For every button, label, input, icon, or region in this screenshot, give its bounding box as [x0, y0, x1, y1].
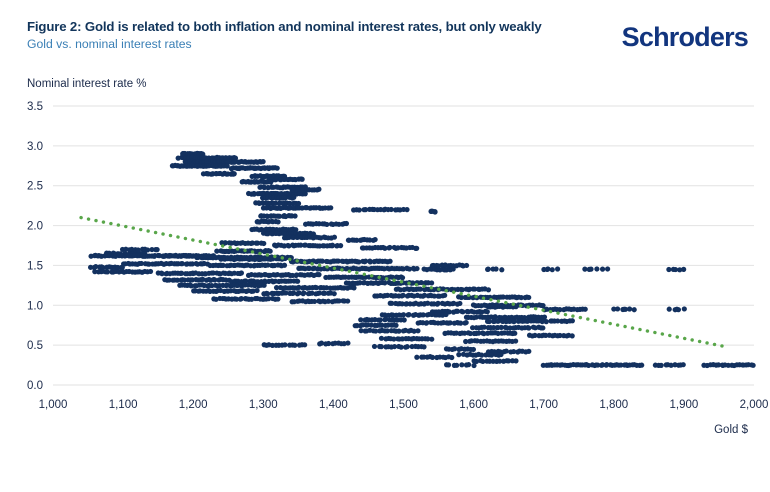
scatter-point [401, 293, 406, 298]
scatter-point [456, 352, 461, 357]
scatter-point [239, 270, 244, 275]
scatter-point [379, 344, 384, 349]
scatter-point [296, 201, 301, 206]
scatter-point [587, 267, 592, 272]
scatter-point [282, 263, 287, 268]
scatter-point [292, 343, 297, 348]
scatter-point [471, 363, 476, 368]
x-tick-label: 2,000 [740, 399, 769, 411]
scatter-point [570, 333, 575, 338]
x-tick-label: 1,400 [319, 399, 348, 411]
scatter-point [378, 317, 383, 322]
x-tick-label: 1,700 [529, 399, 558, 411]
scatter-point [622, 307, 627, 312]
scatter-point [674, 307, 679, 312]
scatter-point [667, 307, 672, 312]
scatter-point [513, 358, 518, 363]
scatter-point [671, 267, 676, 272]
scatter-point [328, 205, 333, 210]
scatter-point [406, 312, 411, 317]
scatter-point [387, 259, 392, 264]
scatter-point [345, 340, 350, 345]
scatter-point [421, 344, 426, 349]
scatter-point [681, 362, 686, 367]
scatter-point [357, 207, 362, 212]
y-tick-label: 3.0 [27, 141, 43, 153]
scatter-point [275, 296, 280, 301]
y-tick-label: 2.0 [27, 221, 43, 233]
y-axis-tick-labels: 0.00.51.01.52.02.53.03.5 [27, 101, 43, 392]
scatter-point [276, 219, 281, 224]
scatter-point [639, 363, 644, 368]
scatter-point [429, 337, 434, 342]
figure-container: Figure 2: Gold is related to both inflat… [0, 0, 770, 492]
x-tick-label: 1,900 [670, 399, 699, 411]
scatter-points [88, 151, 756, 368]
scatter-point [512, 331, 517, 336]
scatter-point [511, 319, 516, 324]
scatter-point [414, 246, 419, 251]
scatter-point [659, 363, 664, 368]
x-tick-label: 1,200 [179, 399, 208, 411]
scatter-point [600, 267, 605, 272]
scatter-point [389, 207, 394, 212]
scatter-point [485, 267, 490, 272]
scatter-point [471, 347, 476, 352]
scatter-point [301, 290, 306, 295]
scatter-point [300, 177, 305, 182]
plot-area: 0.00.51.01.52.02.53.03.5 1,0001,1001,200… [0, 0, 770, 492]
scatter-point [485, 309, 490, 314]
scatter-point [526, 325, 531, 330]
scatter-point [393, 323, 398, 328]
scatter-point [632, 307, 637, 312]
scatter-point [155, 247, 160, 252]
scatter-point [459, 362, 464, 367]
scatter-point [414, 266, 419, 271]
scatter-point [265, 291, 270, 296]
scatter-point [627, 306, 632, 311]
scatter-point [399, 345, 404, 350]
x-tick-label: 1,100 [109, 399, 138, 411]
x-tick-label: 1,500 [389, 399, 418, 411]
scatter-point [720, 362, 725, 367]
scatter-point [555, 266, 560, 271]
scatter-point [550, 267, 555, 272]
scatter-point [402, 317, 407, 322]
scatter-point [292, 213, 297, 218]
scatter-point [681, 267, 686, 272]
scatter-point [446, 362, 451, 367]
scatter-point [211, 253, 216, 258]
scatter-point [268, 179, 273, 184]
scatter-point [382, 280, 387, 285]
scatter-point [400, 275, 405, 280]
scatter-point [275, 166, 280, 171]
y-tick-label: 1.0 [27, 300, 43, 312]
scatter-point [180, 151, 185, 156]
scatter-point [232, 171, 237, 176]
scatter-point [302, 342, 307, 347]
x-axis-tick-labels: 1,0001,1001,2001,3001,4001,5001,6001,700… [39, 399, 769, 411]
scatter-point [414, 355, 419, 360]
scatter-point [145, 247, 150, 252]
scatter-point [260, 159, 265, 164]
scatter-point [401, 312, 406, 317]
scatter-point [373, 237, 378, 242]
scatter-point [498, 352, 503, 357]
scatter-point [262, 283, 267, 288]
y-tick-label: 0.0 [27, 380, 43, 392]
scatter-point [741, 362, 746, 367]
x-tick-label: 1,000 [39, 399, 68, 411]
scatter-point [291, 195, 296, 200]
scatter-point [449, 355, 454, 360]
scatter-point [594, 266, 599, 271]
scatter-point [338, 243, 343, 248]
scatter-point [666, 267, 671, 272]
scatter-point [466, 362, 471, 367]
y-tick-label: 3.5 [27, 101, 43, 113]
scatter-point [605, 266, 610, 271]
scatter-point [332, 291, 337, 296]
scatter-point [404, 207, 409, 212]
scatter-point [457, 301, 462, 306]
y-tick-label: 1.5 [27, 260, 43, 272]
scatter-point [499, 267, 504, 272]
scatter-point [136, 247, 141, 252]
scatter-point [268, 249, 273, 254]
scatter-point [615, 306, 620, 311]
scatter-point [332, 235, 337, 240]
scatter-point [254, 288, 259, 293]
scatter-point [432, 209, 437, 214]
y-tick-label: 2.5 [27, 181, 43, 193]
scatter-point [405, 344, 410, 349]
scatter-point [396, 329, 401, 334]
scatter-point [540, 325, 545, 330]
scatter-point [545, 267, 550, 272]
scatter-point [282, 342, 287, 347]
scatter-point [452, 346, 457, 351]
scatter-point [316, 187, 321, 192]
scatter-point [504, 348, 509, 353]
scatter-point [442, 293, 447, 298]
scatter-point [464, 320, 469, 325]
scatter-point [486, 287, 491, 292]
scatter-point [344, 221, 349, 226]
scatter-point [351, 285, 356, 290]
scatter-point [493, 266, 498, 271]
scatter-point [105, 269, 110, 274]
scatter-point [526, 295, 531, 300]
x-tick-label: 1,600 [459, 399, 488, 411]
scatter-point [513, 338, 518, 343]
scatter-point [682, 306, 687, 311]
y-tick-label: 0.5 [27, 340, 43, 352]
scatter-point [148, 269, 153, 274]
scatter-point [372, 344, 377, 349]
x-tick-label: 1,300 [249, 399, 278, 411]
scatter-point [324, 222, 329, 227]
scatter-point [751, 363, 756, 368]
scatter-point [345, 298, 350, 303]
scatter-point [526, 349, 531, 354]
scatter-point [460, 309, 465, 314]
scatter-point [379, 336, 384, 341]
scatter-point [583, 307, 588, 312]
scatter-point [261, 241, 266, 246]
scatter-point [487, 319, 492, 324]
scatter-point [387, 245, 392, 250]
scatter-point [570, 318, 575, 323]
scatter-point [316, 272, 321, 277]
scatter-point [454, 363, 459, 368]
scatter-plot-svg: 0.00.51.01.52.02.53.03.5 1,0001,1001,200… [0, 0, 770, 492]
scatter-point [295, 279, 300, 284]
scatter-point [464, 263, 469, 268]
scatter-point [443, 312, 448, 317]
x-tick-label: 1,800 [599, 399, 628, 411]
scatter-point [415, 328, 420, 333]
scatter-point [544, 319, 549, 324]
scatter-point [429, 280, 434, 285]
